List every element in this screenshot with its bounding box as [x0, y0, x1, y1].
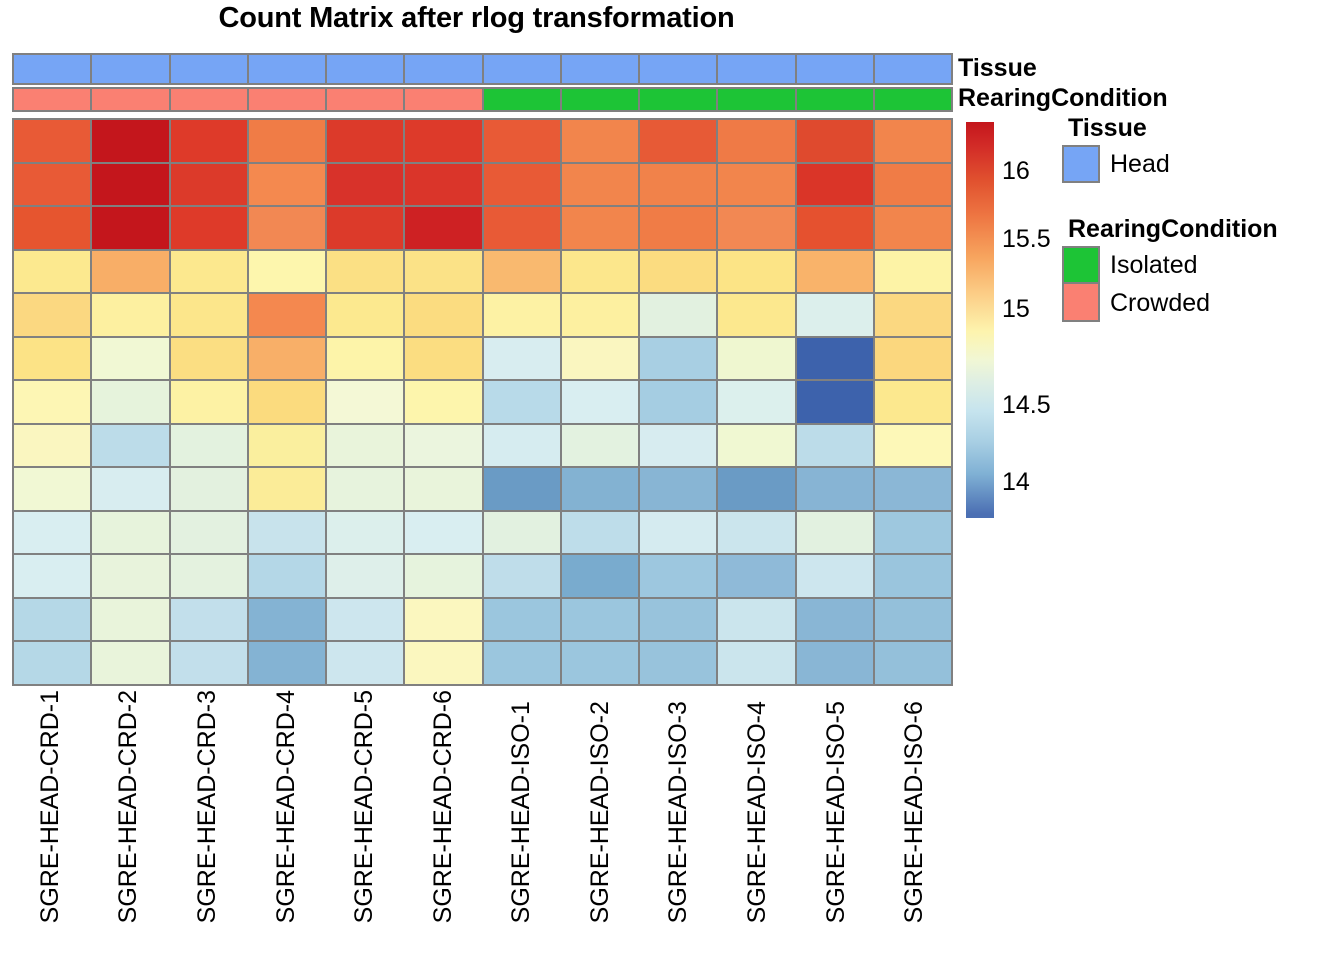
heatmap-cell: [640, 120, 716, 162]
rearing-condition-bar-side-label: RearingCondition: [958, 84, 1168, 113]
heatmap-cell: [797, 338, 873, 380]
heatmap-cell: [718, 381, 794, 423]
heatmap-cell: [171, 381, 247, 423]
heatmap-cell: [249, 381, 325, 423]
rearing-anno-cell: [171, 89, 247, 110]
heatmap-cell: [484, 294, 560, 336]
heatmap-cell: [562, 468, 638, 510]
legend-label: Isolated: [1110, 251, 1198, 280]
column-label: SGRE-HEAD-CRD-4: [274, 690, 299, 923]
heatmap-cell: [327, 425, 403, 467]
heatmap-cell: [484, 512, 560, 554]
heatmap-cell: [92, 642, 168, 684]
heatmap-cell: [875, 642, 951, 684]
heatmap-cell: [484, 207, 560, 249]
heatmap-cell: [562, 599, 638, 641]
heatmap-cell: [171, 468, 247, 510]
column-label: SGRE-HEAD-CRD-3: [195, 690, 220, 923]
heatmap-cell: [171, 599, 247, 641]
tissue-anno-cell: [327, 55, 403, 83]
rearing-anno-cell: [875, 89, 951, 110]
heatmap-cell: [327, 555, 403, 597]
heatmap-cell: [249, 251, 325, 293]
heatmap-cell: [875, 468, 951, 510]
heatmap-cell: [92, 381, 168, 423]
heatmap-cell: [875, 599, 951, 641]
heatmap-cell: [640, 642, 716, 684]
heatmap-cell: [249, 120, 325, 162]
heatmap-cell: [92, 468, 168, 510]
page-title: Count Matrix after rlog transformation: [0, 2, 953, 35]
heatmap-cell: [640, 555, 716, 597]
tissue-anno-cell: [405, 55, 481, 83]
heatmap-cell: [327, 294, 403, 336]
heatmap-cell: [718, 251, 794, 293]
colorbar-tick-label: 15.5: [1002, 227, 1051, 252]
rearing-condition-legend: RearingCondition IsolatedCrowded: [1062, 215, 1344, 322]
heatmap-cell: [92, 120, 168, 162]
heatmap-cell: [640, 381, 716, 423]
heatmap-cell: [875, 207, 951, 249]
heatmap-cell: [405, 555, 481, 597]
rearing-anno-cell: [797, 89, 873, 110]
heatmap-cell: [640, 512, 716, 554]
legend-label: Crowded: [1110, 289, 1210, 318]
heatmap-cell: [92, 164, 168, 206]
heatmap-cell: [875, 512, 951, 554]
heatmap-cell: [562, 120, 638, 162]
heatmap-cell: [405, 425, 481, 467]
heatmap-cell: [562, 555, 638, 597]
heatmap-cell: [327, 599, 403, 641]
heatmap-cell: [484, 120, 560, 162]
heatmap-cell: [14, 120, 90, 162]
column-label: SGRE-HEAD-ISO-6: [902, 690, 927, 923]
heatmap-row: [14, 120, 951, 162]
heatmap-cell: [797, 642, 873, 684]
heatmap-cell: [484, 555, 560, 597]
heatmap-row: [14, 251, 951, 293]
heatmap-cell: [562, 512, 638, 554]
tissue-anno-cell: [249, 55, 325, 83]
tissue-anno-cell: [92, 55, 168, 83]
legend-swatch: [1062, 246, 1100, 284]
heatmap-cell: [405, 512, 481, 554]
heatmap-cell: [14, 512, 90, 554]
legend-item-rearing-condition[interactable]: Crowded: [1062, 284, 1344, 322]
heatmap-cell: [249, 599, 325, 641]
heatmap-row: [14, 164, 951, 206]
heatmap-cell: [718, 512, 794, 554]
heatmap-cell: [640, 207, 716, 249]
column-label: SGRE-HEAD-CRD-1: [38, 690, 63, 923]
heatmap-cell: [327, 251, 403, 293]
heatmap-cell: [562, 642, 638, 684]
heatmap-cell: [562, 294, 638, 336]
heatmap-cell: [562, 251, 638, 293]
heatmap-cell: [327, 642, 403, 684]
heatmap-cell: [249, 642, 325, 684]
heatmap-cell: [484, 338, 560, 380]
heatmap-cell: [484, 599, 560, 641]
column-label: SGRE-HEAD-ISO-1: [509, 690, 534, 923]
heatmap-cell: [14, 468, 90, 510]
legend-swatch: [1062, 145, 1100, 183]
heatmap-cell: [562, 164, 638, 206]
column-label: SGRE-HEAD-CRD-5: [352, 690, 377, 923]
heatmap-cell: [797, 294, 873, 336]
heatmap-row: [14, 381, 951, 423]
heatmap-cell: [405, 599, 481, 641]
tissue-anno-cell: [797, 55, 873, 83]
rearing-anno-cell: [327, 89, 403, 110]
heatmap-cell: [92, 207, 168, 249]
heatmap-cell: [249, 207, 325, 249]
heatmap-cell: [797, 599, 873, 641]
heatmap-cell: [875, 164, 951, 206]
column-labels: SGRE-HEAD-CRD-1SGRE-HEAD-CRD-2SGRE-HEAD-…: [12, 690, 953, 923]
heatmap-cell: [797, 251, 873, 293]
heatmap-cell: [249, 338, 325, 380]
heatmap-cell: [562, 338, 638, 380]
heatmap-cell: [718, 555, 794, 597]
rearing-anno-cell: [640, 89, 716, 110]
tissue-bar-side-label: Tissue: [958, 54, 1037, 83]
heatmap-cell: [92, 512, 168, 554]
heatmap-cell: [249, 425, 325, 467]
heatmap-row: [14, 207, 951, 249]
tissue-anno-cell: [171, 55, 247, 83]
heatmap-row: [14, 555, 951, 597]
heatmap-cell: [92, 251, 168, 293]
heatmap-cell: [875, 425, 951, 467]
rearing-anno-cell: [718, 89, 794, 110]
heatmap-cell: [718, 207, 794, 249]
heatmap-cell: [562, 207, 638, 249]
heatmap-cell: [171, 294, 247, 336]
heatmap-cell: [718, 599, 794, 641]
heatmap-cell: [875, 251, 951, 293]
heatmap-cell: [249, 164, 325, 206]
heatmap-cell: [14, 338, 90, 380]
heatmap-cell: [875, 555, 951, 597]
heatmap-cell: [327, 164, 403, 206]
heatmap-cell: [171, 425, 247, 467]
heatmap-cell: [14, 164, 90, 206]
heatmap-cell: [249, 294, 325, 336]
heatmap-cell: [92, 425, 168, 467]
heatmap-cell: [14, 425, 90, 467]
column-label: SGRE-HEAD-ISO-2: [588, 690, 613, 923]
heatmap-cell: [171, 120, 247, 162]
heatmap-cell: [14, 555, 90, 597]
heatmap-cell: [405, 251, 481, 293]
heatmap-cell: [405, 120, 481, 162]
heatmap-cell: [718, 425, 794, 467]
heatmap-cell: [875, 381, 951, 423]
heatmap-cell: [797, 207, 873, 249]
heatmap-cell: [875, 338, 951, 380]
colorbar-tick-label: 16: [1002, 159, 1030, 184]
heatmap-cell: [640, 425, 716, 467]
tissue-annotation-bar: [12, 53, 953, 85]
heatmap-cell: [797, 164, 873, 206]
heatmap-cell: [484, 468, 560, 510]
heatmap-cell: [92, 338, 168, 380]
heatmap-cell: [640, 294, 716, 336]
heatmap-cell: [14, 381, 90, 423]
heatmap-cell: [249, 512, 325, 554]
heatmap-cell: [718, 642, 794, 684]
heatmap-cell: [249, 468, 325, 510]
colorbar-tick-label: 14.5: [1002, 393, 1051, 418]
legend-item-rearing-condition[interactable]: Isolated: [1062, 246, 1344, 284]
rearing-anno-cell: [249, 89, 325, 110]
heatmap-cell: [14, 294, 90, 336]
colorbar-tick-label: 14: [1002, 470, 1030, 495]
heatmap-cell: [171, 251, 247, 293]
heatmap-cell: [405, 642, 481, 684]
rearing-anno-cell: [562, 89, 638, 110]
heatmap-cell: [718, 338, 794, 380]
rearing-condition-annotation-bar: [12, 87, 953, 112]
column-label: SGRE-HEAD-ISO-5: [824, 690, 849, 923]
tissue-legend-title: Tissue: [1068, 114, 1344, 143]
column-label: SGRE-HEAD-ISO-3: [666, 690, 691, 923]
tissue-anno-cell: [640, 55, 716, 83]
tissue-anno-cell: [562, 55, 638, 83]
heatmap-cell: [718, 164, 794, 206]
heatmap-cell: [718, 468, 794, 510]
rearing-anno-cell: [14, 89, 90, 110]
heatmap-cell: [405, 381, 481, 423]
column-label: SGRE-HEAD-CRD-2: [116, 690, 141, 923]
tissue-anno-cell: [718, 55, 794, 83]
heatmap-cell: [327, 381, 403, 423]
heatmap-row: [14, 468, 951, 510]
heatmap-cell: [327, 120, 403, 162]
heatmap-row: [14, 294, 951, 336]
rearing-anno-cell: [405, 89, 481, 110]
column-label: SGRE-HEAD-CRD-6: [431, 690, 456, 923]
heatmap-cell: [875, 120, 951, 162]
heatmap-cell: [562, 425, 638, 467]
heatmap-cell: [640, 251, 716, 293]
rearing-anno-cell: [484, 89, 560, 110]
heatmap-cell: [405, 338, 481, 380]
heatmap-cell: [718, 120, 794, 162]
heatmap-row: [14, 642, 951, 684]
heatmap-cell: [484, 251, 560, 293]
heatmap-cell: [797, 120, 873, 162]
heatmap-cell: [797, 381, 873, 423]
heatmap-cell: [92, 555, 168, 597]
heatmap-cell: [718, 294, 794, 336]
heatmap-cell: [640, 164, 716, 206]
legend-swatch: [1062, 284, 1100, 322]
heatmap-cell: [797, 425, 873, 467]
heatmap-cell: [92, 599, 168, 641]
heatmap-cell: [327, 207, 403, 249]
heatmap-cell: [875, 294, 951, 336]
heatmap-cell: [171, 642, 247, 684]
legend-label: Head: [1110, 150, 1170, 179]
heatmap-cell: [327, 512, 403, 554]
heatmap-row: [14, 599, 951, 641]
heatmap-cell: [249, 555, 325, 597]
tissue-anno-cell: [14, 55, 90, 83]
heatmap-cell: [562, 381, 638, 423]
heatmap-cell: [327, 338, 403, 380]
heatmap-cell: [640, 338, 716, 380]
rearing-anno-cell: [92, 89, 168, 110]
heatmap-cell: [640, 599, 716, 641]
legend-item-tissue[interactable]: Head: [1062, 145, 1344, 183]
heatmap-cell: [797, 555, 873, 597]
tissue-legend: Tissue Head: [1062, 114, 1344, 183]
legend-area: Tissue Head RearingCondition IsolatedCro…: [1062, 114, 1344, 322]
heatmap-cell: [405, 207, 481, 249]
heatmap-cell: [171, 555, 247, 597]
heatmap-grid: [12, 118, 953, 686]
heatmap-region: [12, 53, 953, 686]
heatmap-cell: [405, 164, 481, 206]
heatmap-cell: [797, 468, 873, 510]
heatmap-row: [14, 338, 951, 380]
heatmap-cell: [171, 338, 247, 380]
heatmap-row: [14, 425, 951, 467]
tissue-anno-cell: [875, 55, 951, 83]
rearing-condition-legend-title: RearingCondition: [1068, 215, 1344, 244]
heatmap-cell: [484, 425, 560, 467]
heatmap-cell: [484, 381, 560, 423]
column-label: SGRE-HEAD-ISO-4: [745, 690, 770, 923]
colorbar-gradient: [966, 122, 994, 518]
heatmap-cell: [171, 207, 247, 249]
heatmap-cell: [92, 294, 168, 336]
heatmap-cell: [14, 207, 90, 249]
heatmap-cell: [797, 512, 873, 554]
heatmap-cell: [327, 468, 403, 510]
heatmap-cell: [171, 512, 247, 554]
heatmap-cell: [14, 251, 90, 293]
heatmap-cell: [484, 642, 560, 684]
heatmap-cell: [14, 642, 90, 684]
heatmap-row: [14, 512, 951, 554]
heatmap-cell: [405, 468, 481, 510]
heatmap-cell: [14, 599, 90, 641]
heatmap-cell: [405, 294, 481, 336]
tissue-anno-cell: [484, 55, 560, 83]
heatmap-cell: [640, 468, 716, 510]
heatmap-cell: [171, 164, 247, 206]
heatmap-cell: [484, 164, 560, 206]
colorbar-tick-label: 15: [1002, 297, 1030, 322]
